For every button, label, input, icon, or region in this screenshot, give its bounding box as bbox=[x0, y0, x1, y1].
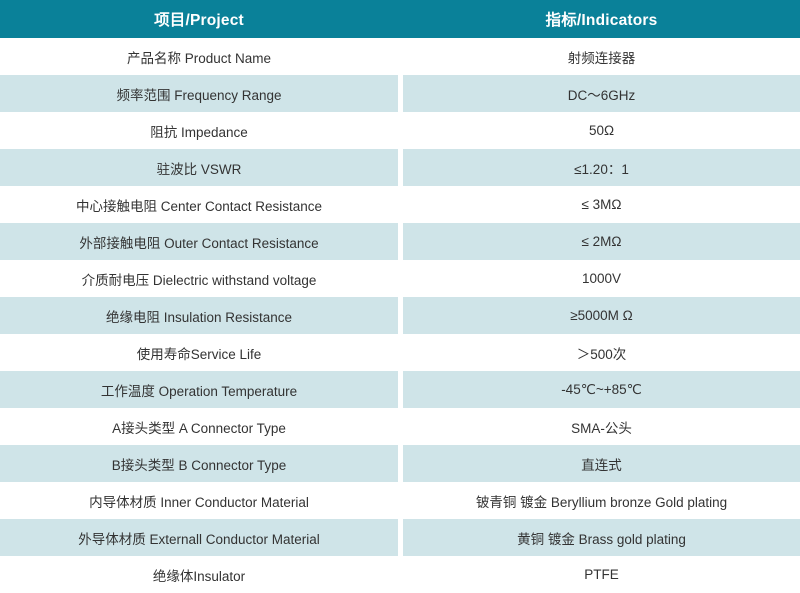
cell-project: 产品名称 Product Name bbox=[0, 38, 398, 75]
cell-project: 绝缘体Insulator bbox=[0, 556, 398, 593]
cell-indicator: DC～6GHz bbox=[403, 75, 800, 112]
cell-project: A接头类型 A Connector Type bbox=[0, 408, 398, 445]
specification-table: 项目/Project 指标/Indicators 产品名称 Product Na… bbox=[0, 0, 800, 593]
table-row: 外导体材质 Externall Conductor Material黄铜 镀金 … bbox=[0, 519, 800, 556]
table-row: 中心接触电阻 Center Contact Resistance≤ 3MΩ bbox=[0, 186, 800, 223]
cell-project: 外导体材质 Externall Conductor Material bbox=[0, 519, 398, 556]
cell-indicator: ≤ 3MΩ bbox=[403, 186, 800, 223]
cell-project: 介质耐电压 Dielectric withstand voltage bbox=[0, 260, 398, 297]
table-row: B接头类型 B Connector Type直连式 bbox=[0, 445, 800, 482]
table-header-row: 项目/Project 指标/Indicators bbox=[0, 0, 800, 38]
cell-project: 外部接触电阻 Outer Contact Resistance bbox=[0, 223, 398, 260]
cell-project: 内导体材质 Inner Conductor Material bbox=[0, 482, 398, 519]
cell-indicator: ＞500次 bbox=[403, 334, 800, 371]
table-row: 工作温度 Operation Temperature-45℃~+85℃ bbox=[0, 371, 800, 408]
table-row: 使用寿命Service Life＞500次 bbox=[0, 334, 800, 371]
table-row: 内导体材质 Inner Conductor Material铍青铜 镀金 Ber… bbox=[0, 482, 800, 519]
table-row: A接头类型 A Connector TypeSMA-公头 bbox=[0, 408, 800, 445]
cell-project: 阻抗 Impedance bbox=[0, 112, 398, 149]
cell-project: 驻波比 VSWR bbox=[0, 149, 398, 186]
cell-project: 绝缘电阻 Insulation Resistance bbox=[0, 297, 398, 334]
table-row: 频率范围 Frequency RangeDC～6GHz bbox=[0, 75, 800, 112]
cell-indicator: 50Ω bbox=[403, 112, 800, 149]
table-body: 产品名称 Product Name射频连接器频率范围 Frequency Ran… bbox=[0, 38, 800, 593]
table-row: 绝缘体InsulatorPTFE bbox=[0, 556, 800, 593]
table-row: 阻抗 Impedance50Ω bbox=[0, 112, 800, 149]
cell-indicator: ≤ 2MΩ bbox=[403, 223, 800, 260]
cell-project: 使用寿命Service Life bbox=[0, 334, 398, 371]
cell-project: 工作温度 Operation Temperature bbox=[0, 371, 398, 408]
cell-indicator: ≤1.20：1 bbox=[403, 149, 800, 186]
column-header-project: 项目/Project bbox=[0, 0, 398, 38]
table-row: 驻波比 VSWR≤1.20：1 bbox=[0, 149, 800, 186]
cell-indicator: ≥5000M Ω bbox=[403, 297, 800, 334]
table-row: 产品名称 Product Name射频连接器 bbox=[0, 38, 800, 75]
cell-project: 频率范围 Frequency Range bbox=[0, 75, 398, 112]
cell-project: 中心接触电阻 Center Contact Resistance bbox=[0, 186, 398, 223]
cell-project: B接头类型 B Connector Type bbox=[0, 445, 398, 482]
cell-indicator: 射频连接器 bbox=[403, 38, 800, 75]
cell-indicator: SMA-公头 bbox=[403, 408, 800, 445]
cell-indicator: 黄铜 镀金 Brass gold plating bbox=[403, 519, 800, 556]
cell-indicator: 直连式 bbox=[403, 445, 800, 482]
cell-indicator: PTFE bbox=[403, 556, 800, 593]
table-row: 绝缘电阻 Insulation Resistance≥5000M Ω bbox=[0, 297, 800, 334]
cell-indicator: 铍青铜 镀金 Beryllium bronze Gold plating bbox=[403, 482, 800, 519]
cell-indicator: -45℃~+85℃ bbox=[403, 371, 800, 408]
column-header-indicators: 指标/Indicators bbox=[403, 0, 800, 38]
table-row: 外部接触电阻 Outer Contact Resistance≤ 2MΩ bbox=[0, 223, 800, 260]
table-row: 介质耐电压 Dielectric withstand voltage1000V bbox=[0, 260, 800, 297]
cell-indicator: 1000V bbox=[403, 260, 800, 297]
